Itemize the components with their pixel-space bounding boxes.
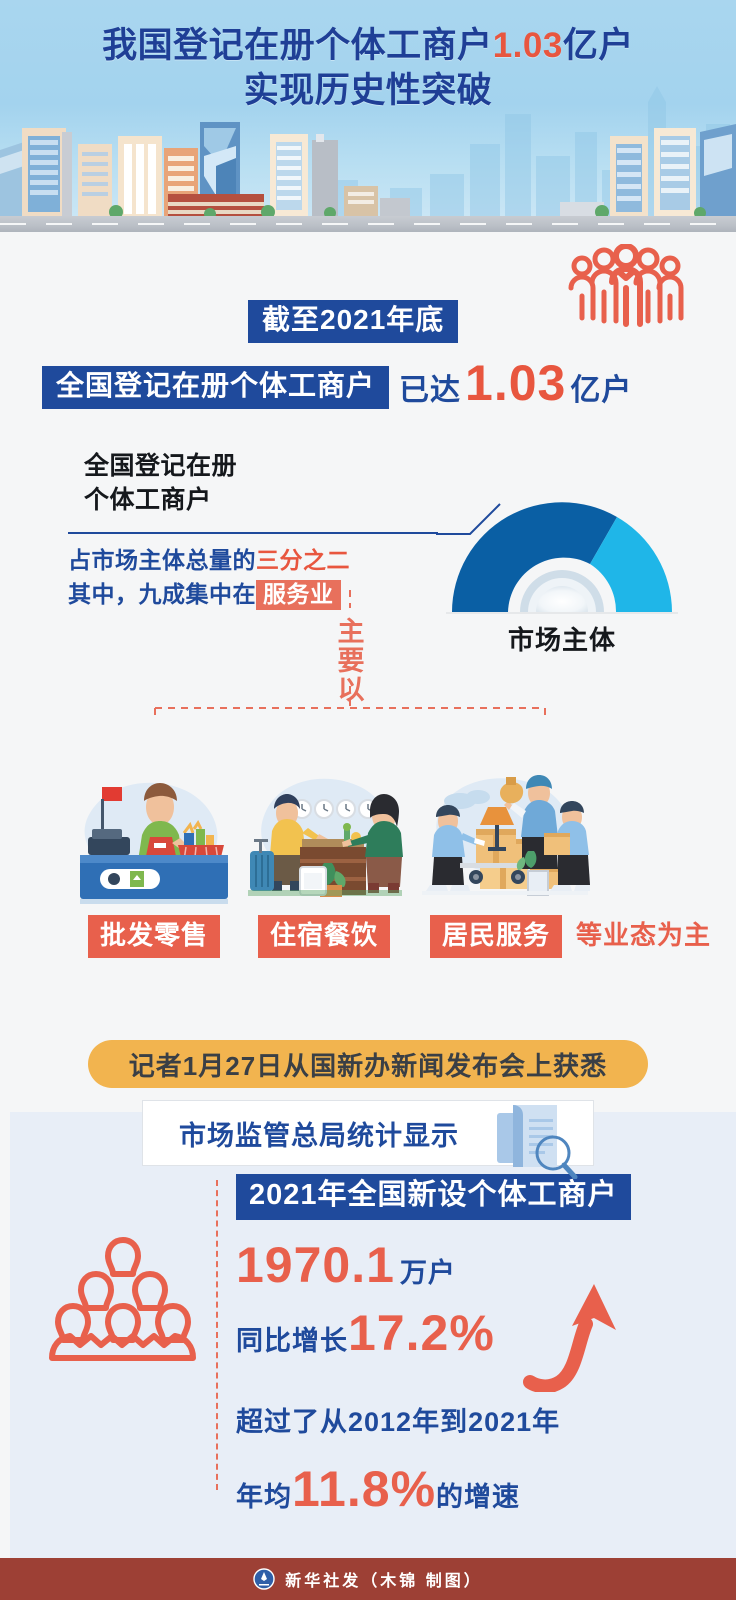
average-label: 年均 — [236, 1475, 292, 1514]
dashed-connector-tree — [0, 590, 736, 720]
growth-label: 同比增长 — [236, 1319, 348, 1358]
average-growth-row: 年均 11.8 % 的增速 — [236, 1464, 520, 1514]
donut-side-label: 全国登记在册 个体工商户 — [84, 450, 237, 517]
date-tag: 截至2021年底 — [248, 300, 458, 343]
vertical-dashed-divider — [216, 1180, 218, 1490]
title-line2: 实现历史性突破 — [0, 69, 736, 114]
header-banner: 我国登记在册个体工商户1.03亿户 实现历史性突破 — [0, 0, 736, 232]
share-line1-pre: 占市场主体总量的 — [68, 547, 256, 573]
category-chip-resident-services: 居民服务 — [430, 915, 562, 958]
average-percent-sign: % — [391, 1464, 436, 1514]
date-tag-row: 截至2021年底 — [248, 300, 458, 343]
infographic-page: 我国登记在册个体工商户1.03亿户 实现历史性突破 截至202 — [0, 0, 736, 1600]
new-business-value: 1970.1 — [236, 1240, 395, 1290]
industry-illustrations-row — [0, 755, 736, 915]
page-title: 我国登记在册个体工商户1.03亿户 实现历史性突破 — [0, 24, 736, 114]
subject-tag: 全国登记在册个体工商户 — [42, 366, 389, 409]
document-magnifier-icon — [491, 1089, 579, 1179]
headline-stat-row: 全国登记在册个体工商户 已达 1.03 亿户 — [42, 360, 632, 409]
share-fraction: 三分之二 — [256, 547, 350, 573]
new-business-unit: 万户 — [400, 1251, 456, 1290]
average-suffix: 的增速 — [436, 1475, 520, 1514]
arrow-up-growth-icon — [520, 1282, 640, 1392]
source-statement-card: 市场监管总局统计显示 — [142, 1100, 594, 1166]
share-line-1: 占市场主体总量的三分之二 — [68, 544, 350, 578]
reached-label: 已达 — [399, 365, 461, 409]
top-stat-section: 截至2021年底 全国登记在册个体工商户 已达 1.03 亿户 — [0, 232, 736, 432]
growth-percent-sign: % — [449, 1308, 494, 1358]
road-strip — [0, 216, 736, 232]
stats-panel-inner: 2021年全国新设个体工商户 1970.1 万户 同比增长 17.2 % 超过了… — [10, 1112, 736, 1558]
people-pyramid-icon — [48, 1232, 198, 1364]
new-business-value-row: 1970.1 万户 — [236, 1240, 456, 1290]
xinhua-logo-icon — [253, 1568, 275, 1590]
donut-side-label-line2: 个体工商户 — [84, 484, 237, 518]
footer-credit-bar: 新华社发（木锦 制图） — [0, 1558, 736, 1600]
average-value: 11.8 — [292, 1464, 391, 1514]
industry-category-row: 批发零售 住宿餐饮 居民服务 等业态为主 — [0, 915, 736, 961]
headline-unit: 亿户 — [570, 365, 632, 409]
category-chip-wholesale-retail: 批发零售 — [88, 915, 220, 958]
growth-row: 同比增长 17.2 % — [236, 1308, 495, 1358]
category-tail-text: 等业态为主 — [576, 922, 711, 948]
footer-credit-text: 新华社发（木锦 制图） — [285, 1567, 482, 1591]
comparison-line: 超过了从2012年到2021年 — [236, 1400, 560, 1439]
growth-value: 17.2 — [348, 1308, 449, 1358]
donut-side-label-line1: 全国登记在册 — [84, 450, 237, 484]
retail-cashier-illustration — [72, 755, 230, 910]
new-business-tag: 2021年全国新设个体工商户 — [236, 1174, 631, 1220]
source-statement-text: 市场监管总局统计显示 — [179, 1114, 459, 1153]
headline-value: 1.03 — [465, 360, 566, 408]
category-chip-hotel-catering: 住宿餐饮 — [258, 915, 390, 958]
moving-service-illustration — [420, 755, 590, 910]
news-source-text: 记者1月27日从国新办新闻发布会上获悉 — [129, 1046, 607, 1083]
title-line1-post: 亿户 — [563, 26, 634, 65]
title-line1-pre: 我国登记在册个体工商户 — [102, 26, 493, 65]
stats-panel: 2021年全国新设个体工商户 1970.1 万户 同比增长 17.2 % 超过了… — [10, 1112, 736, 1558]
people-group-icon — [566, 244, 686, 328]
title-highlight-number: 1.03 — [493, 26, 563, 65]
leader-line — [68, 532, 438, 534]
city-buildings-icon — [0, 106, 736, 226]
news-source-banner: 记者1月27日从国新办新闻发布会上获悉 — [88, 1040, 648, 1088]
hotel-reception-illustration — [246, 755, 404, 910]
